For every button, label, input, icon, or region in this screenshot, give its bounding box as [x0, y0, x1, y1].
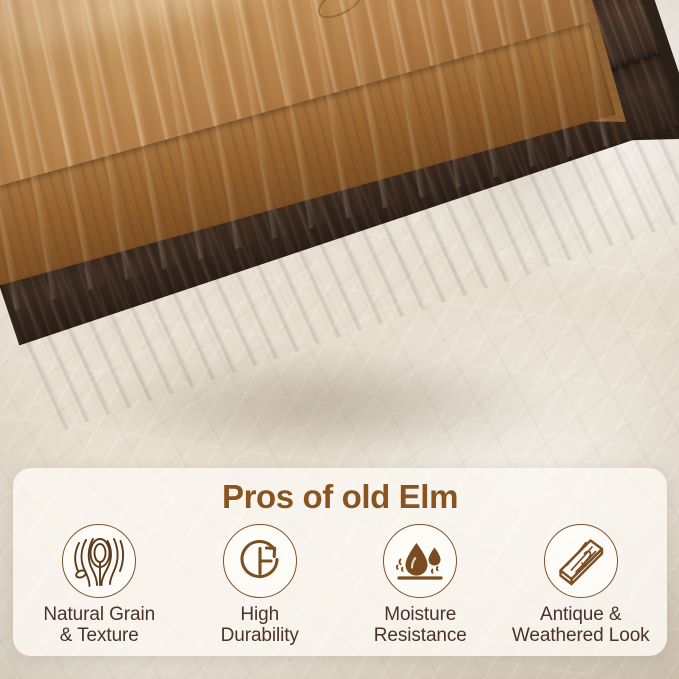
water-droplet-icon: [383, 524, 457, 598]
feature-moisture-resistance: Moisture Resistance: [340, 524, 500, 647]
wood-grain-icon: [62, 524, 136, 598]
feature-label: High Durability: [221, 604, 299, 647]
feature-high-durability: High Durability: [180, 524, 340, 647]
feature-label: Natural Grain & Texture: [43, 604, 155, 647]
feature-list: Natural Grain & Texture: [13, 524, 667, 647]
feature-label: Antique & Weathered Look: [512, 604, 650, 647]
wood-plank-icon: [544, 524, 618, 598]
product-feature-image: Pros of old Elm: [0, 0, 679, 679]
feature-natural-grain: Natural Grain & Texture: [19, 524, 179, 647]
feature-antique-weathered: Antique & Weathered Look: [501, 524, 661, 647]
feature-label: Moisture Resistance: [374, 604, 467, 647]
pros-feature-card: Pros of old Elm: [13, 468, 667, 656]
card-title: Pros of old Elm: [222, 478, 458, 516]
clock-rotate-icon: [223, 524, 297, 598]
